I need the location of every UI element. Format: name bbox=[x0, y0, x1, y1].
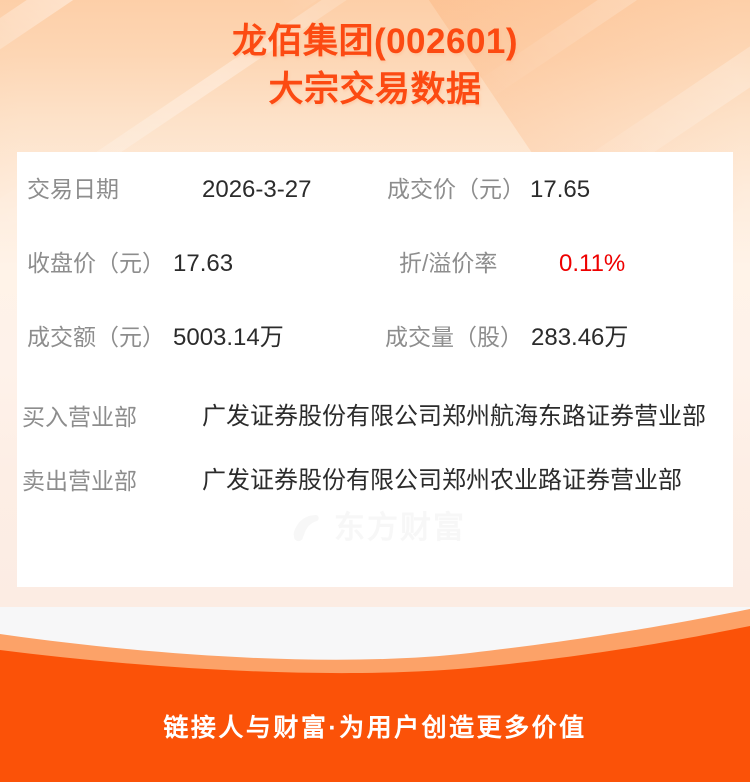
footer-banner: 链接人与财富·为用户创造更多价值 bbox=[0, 607, 750, 782]
eastmoney-watermark-text: 东方财富 bbox=[334, 508, 466, 548]
label-buy-branch: 买入营业部 bbox=[17, 396, 202, 438]
row-cell-right: 折/溢价率 0.11% bbox=[375, 246, 733, 281]
header-light-streak bbox=[267, 0, 563, 19]
eastmoney-logo-icon bbox=[285, 508, 325, 548]
footer-slogan: 链接人与财富·为用户创造更多价值 bbox=[0, 711, 750, 745]
table-row: 交易日期 2026-3-27 成交价（元） 17.65 bbox=[17, 152, 733, 226]
label-turnover: 成交额（元） bbox=[27, 320, 165, 354]
row-cell-right: 成交价（元） 17.65 bbox=[375, 172, 733, 207]
footer-wave-graphic bbox=[0, 607, 750, 782]
data-rows: 交易日期 2026-3-27 成交价（元） 17.65 收盘价（元） 17.63… bbox=[17, 152, 733, 502]
value-sell-branch: 广发证券股份有限公司郑州农业路证券营业部 bbox=[202, 460, 733, 502]
value-trade-date: 2026-3-27 bbox=[202, 173, 311, 207]
label-sell-branch: 卖出营业部 bbox=[17, 460, 202, 502]
table-row: 买入营业部 广发证券股份有限公司郑州航海东路证券营业部 bbox=[17, 374, 733, 438]
block-trade-card: 东方财富 交易日期 2026-3-27 成交价（元） 17.65 收盘价（元） … bbox=[17, 152, 733, 587]
value-volume: 283.46万 bbox=[531, 321, 628, 355]
label-deal-price: 成交价（元） bbox=[387, 172, 525, 206]
value-premium-rate: 0.11% bbox=[559, 247, 625, 281]
label-trade-date: 交易日期 bbox=[27, 172, 202, 206]
share-card-page: 龙佰集团(002601) 大宗交易数据 东方财富 交易日期 2026-3-27 bbox=[0, 0, 750, 782]
title-line-stock: 龙佰集团(002601) bbox=[0, 18, 750, 66]
table-row: 成交额（元） 5003.14万 成交量（股） 283.46万 bbox=[17, 300, 733, 374]
value-turnover: 5003.14万 bbox=[173, 321, 284, 355]
row-cell-right: 成交量（股） 283.46万 bbox=[375, 320, 733, 355]
row-cell-left: 成交额（元） 5003.14万 bbox=[17, 320, 375, 355]
row-cell-left: 收盘价（元） 17.63 bbox=[17, 246, 375, 281]
page-title: 龙佰集团(002601) 大宗交易数据 bbox=[0, 18, 750, 114]
value-buy-branch: 广发证券股份有限公司郑州航海东路证券营业部 bbox=[202, 396, 733, 438]
table-row: 卖出营业部 广发证券股份有限公司郑州农业路证券营业部 bbox=[17, 438, 733, 502]
value-deal-price: 17.65 bbox=[530, 173, 590, 207]
table-row: 收盘价（元） 17.63 折/溢价率 0.11% bbox=[17, 226, 733, 300]
value-close-price: 17.63 bbox=[173, 247, 233, 281]
label-volume: 成交量（股） bbox=[385, 320, 523, 354]
label-premium-rate: 折/溢价率 bbox=[399, 246, 559, 280]
row-cell-left: 交易日期 2026-3-27 bbox=[17, 172, 375, 207]
eastmoney-watermark: 东方财富 bbox=[285, 504, 515, 552]
label-close-price: 收盘价（元） bbox=[27, 246, 165, 280]
title-line-subject: 大宗交易数据 bbox=[0, 66, 750, 114]
